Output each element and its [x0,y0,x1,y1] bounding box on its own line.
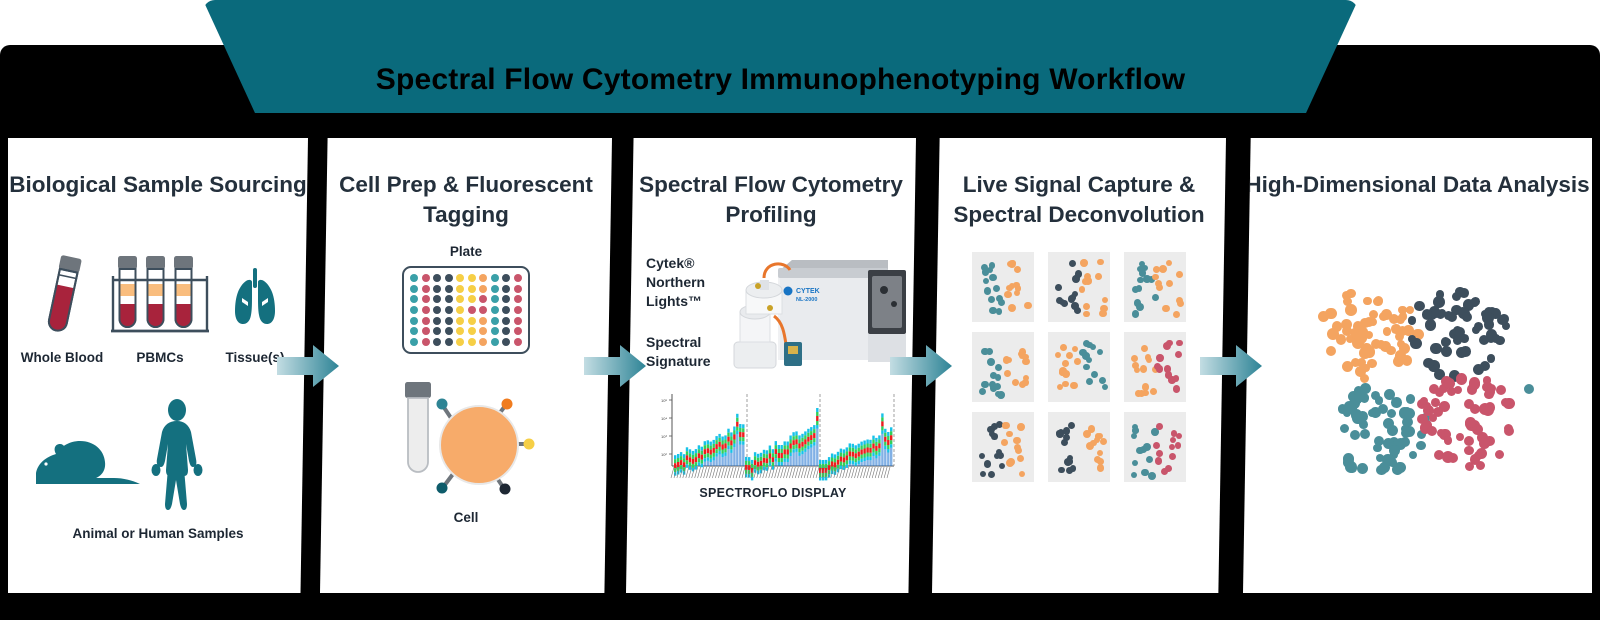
spectral-bin [810,435,812,440]
scatter-point [1097,259,1104,266]
spectral-bin [698,445,700,449]
scatter-point [1132,460,1138,466]
plate-well [456,317,464,325]
cluster-point [1383,327,1392,336]
scatter-point [1088,425,1096,433]
scatter-point [1019,348,1027,356]
scatter-point [1166,280,1173,287]
scatter-point [1176,271,1183,278]
spectral-bin [846,464,848,468]
spectral-bin [881,421,883,426]
cluster-point [1456,433,1465,442]
scatter-point [1062,381,1069,388]
step-card-live-signal-capture-deconvolution[interactable]: Live Signal Capture & Spectral Deconvolu… [932,138,1226,593]
spectral-bin [816,429,818,467]
spectral-bin [795,435,797,439]
scatter-point [979,388,986,395]
spectral-bin [828,461,830,465]
spectral-bin [704,458,706,462]
spectral-bin [801,438,803,442]
spectral-bin [760,461,762,466]
scatter-point [1161,468,1169,476]
spectral-bin [825,460,827,464]
spectral-bin [745,465,747,470]
spectral-bin [804,431,806,435]
spectral-bin [674,459,676,463]
spectral-bin [834,454,836,458]
spectral-bin [852,448,854,452]
scatter-point [1006,357,1012,363]
spectral-bin [689,466,691,470]
spectral-bin [781,466,783,467]
plate-well [514,306,522,314]
scatter-point [1162,305,1170,313]
workflow-steps: Biological Sample Sourcing [0,138,1600,593]
spectral-bin [775,449,777,454]
spectral-bin [698,462,700,466]
spectral-bin [792,449,794,453]
plate-well [502,317,510,325]
spectral-bin [875,451,877,455]
workflow-diagram: Spectral Flow Cytometry Immunophenotypin… [0,0,1600,620]
spectral-bin [784,445,786,449]
spectral-bin [822,460,824,464]
spectral-bin [695,462,697,466]
scatter-point [1062,360,1069,367]
spectral-bin [872,453,874,457]
spectral-bin [881,430,883,434]
scatter-point [1019,471,1025,477]
spectral-bin [754,452,756,456]
spectral-bin [769,450,771,454]
cluster-point [1447,312,1458,323]
scatter-point [999,463,1005,469]
spectral-bin [816,421,818,425]
spectral-bin [787,442,789,446]
scatter-point [1169,453,1176,460]
plate-well [468,295,476,303]
cluster-point [1469,379,1480,390]
cluster-point [1362,364,1370,372]
instrument-brand-text: CYTEK [796,288,820,295]
plate-label: Plate [320,244,612,259]
human-icon [146,398,208,520]
spectral-bin [692,451,694,455]
spectral-bin [813,429,815,433]
spectral-bin [763,454,765,458]
scatter-point [1152,294,1159,301]
cluster-point [1441,346,1452,357]
spectral-bin [730,440,732,445]
spectral-bin [807,433,809,437]
scatter-point [1070,465,1076,471]
spectral-bin [807,429,809,433]
scatter-point [1056,430,1064,438]
spectral-bin [710,442,712,446]
cluster-point [1444,436,1453,445]
plate-well [514,317,522,325]
spectral-bin [724,452,726,456]
spectral-bin [792,436,794,440]
spectral-bin [875,458,877,466]
cluster-point [1345,304,1357,316]
spectral-bin [887,453,889,467]
spectral-bin [887,449,889,453]
scatter-point [1099,310,1107,318]
step-title: Cell Prep & Fluorescent Tagging [320,170,612,229]
lungs-tissue-icon [224,268,286,332]
spectral-bin [804,435,806,439]
spectral-bin [689,449,691,453]
plate-well [410,295,418,303]
spectral-bin [816,412,818,416]
spectral-bin [695,453,697,457]
cluster-point [1406,306,1414,314]
plate-well [502,285,510,293]
spectral-bin [852,464,854,466]
plate-well [433,317,441,325]
step-3-artwork: Cytek® Northern Lights™ Spectral Signatu… [626,238,916,593]
spectral-bin [869,448,871,453]
spectral-bin [872,436,874,440]
spectral-bin [878,452,880,456]
spectral-bin [775,458,777,462]
plate-well [502,274,510,282]
spectral-bin [795,439,797,444]
spectral-bin [866,453,868,457]
plate-well [422,338,430,346]
scatter-point [1075,270,1083,278]
spectral-bin [674,455,676,459]
plate-well [433,295,441,303]
spectral-bin [810,431,812,435]
spectral-bin [704,462,706,466]
spectral-bin [781,445,783,449]
spectral-bin [789,440,791,444]
scatter-point [1090,344,1096,350]
scatter-point [981,348,988,355]
whole-blood-label: Whole Blood [16,350,108,365]
spectral-bin [721,437,723,441]
spectral-bin [810,440,812,444]
spectral-bin [801,434,803,438]
spectral-bin [763,463,765,467]
plate-well [479,338,487,346]
spectral-bin [707,440,709,444]
spectral-bin [846,447,848,451]
cluster-point [1400,437,1410,447]
step-card-spectral-flow-cytometry-profiling[interactable]: Spectral Flow Cytometry Profiling Cytek®… [626,138,916,593]
spectral-bin [858,461,860,465]
scatter-point [1082,278,1089,285]
spectral-bin [683,462,685,467]
scatter-point [1006,431,1013,438]
spectral-bin [760,453,762,457]
spectral-bin [846,460,848,464]
cluster-point [1437,429,1445,437]
spectral-bin [730,445,732,449]
scatter-point [1136,447,1143,454]
spectral-bin [701,464,703,468]
arrow-step3-to-step4 [890,345,952,387]
scatter-point [1086,442,1094,450]
step-card-high-dimensional-data-analysis[interactable]: High-Dimensional Data Analysis [1243,138,1592,593]
spectral-bin [813,438,815,442]
spectral-bin [822,464,824,468]
spectral-bin [855,453,857,458]
spectral-bin [748,457,750,461]
spectral-bin [727,437,729,442]
pbmcs-label: PBMCs [116,350,204,365]
spectral-bin [739,445,741,467]
cluster-point [1336,334,1347,345]
spectral-bin [739,428,741,432]
scatter-point [1143,275,1151,283]
plate-well [479,285,487,293]
spectral-bin [810,448,812,466]
plate-well [422,327,430,335]
spectral-bin [745,461,747,465]
spectral-bin [766,458,768,463]
spectral-bin [781,453,783,458]
spectral-bin [742,437,744,441]
scatter-point [1080,259,1088,267]
plate-well [433,338,441,346]
spectral-bin [884,429,886,433]
scatter-point [989,307,997,315]
step-title: Biological Sample Sourcing [8,170,308,200]
spectral-bin [884,442,886,446]
spectral-bin [855,445,857,449]
plate-well [468,317,476,325]
spectral-bin [795,444,797,448]
scatter-point [1100,438,1107,445]
spectral-bin [840,466,842,470]
scatter-point [1097,458,1104,465]
spectral-bin [742,424,744,428]
spectral-bin [775,462,777,466]
spectral-bin [686,464,688,468]
spectral-bin [840,457,842,462]
spectral-bin [840,449,842,453]
scatter-point [1069,260,1076,267]
cluster-point [1357,463,1368,474]
scatter-panel [1124,412,1186,482]
spectral-bin [781,458,783,462]
scatter-point [1166,260,1172,266]
step-card-biological-sample-sourcing[interactable]: Biological Sample Sourcing [8,138,308,593]
scatter-point [989,274,997,282]
cluster-point [1422,309,1433,320]
scatter-panel [972,412,1034,482]
spectral-bin [689,453,691,457]
spectral-bin [724,435,726,439]
scatter-point [1156,450,1163,457]
spectral-bin [887,440,889,445]
scatter-point [994,383,1001,390]
spectral-bin [860,462,862,466]
cluster-point [1504,424,1513,433]
spectral-bin [798,435,800,439]
spectral-bin [710,455,712,459]
plate-well [491,295,499,303]
spectral-bin [721,445,723,450]
spectral-bin [730,449,732,453]
plate-well [514,285,522,293]
cluster-point [1398,326,1408,336]
spectroflo-caption: SPECTROFLO DISPLAY [648,486,898,500]
spectral-bin [715,457,717,466]
plate-well [445,295,453,303]
spectral-bin [819,464,821,468]
cluster-point [1351,409,1362,420]
spectral-bin [787,455,789,459]
spectral-bin [775,445,777,449]
scatter-point [1102,384,1109,391]
spectral-bin [852,457,854,461]
scatter-point [1012,379,1019,386]
spectral-bin [724,456,726,466]
scatter-panel [1048,252,1110,322]
spectral-bin [890,427,892,431]
spectral-bin [792,440,794,445]
scatter-point [1095,433,1102,440]
spectral-bin [795,452,797,466]
step-title: Spectral Flow Cytometry Profiling [626,170,916,229]
spectral-bin [834,462,836,467]
banner-title: Spectral Flow Cytometry Immunophenotypin… [203,63,1358,97]
scatter-point [1007,458,1015,466]
svg-text:10³: 10³ [661,434,667,439]
hd-cluster-plot [1298,262,1538,492]
step-title: High-Dimensional Data Analysis [1243,170,1592,200]
spectral-bin [784,454,786,458]
cluster-point [1436,290,1444,298]
spectral-bin [680,456,682,460]
spectral-bin [807,449,809,466]
step-4-artwork [932,238,1226,593]
spectral-bin [710,446,712,450]
scatter-point [1152,274,1159,281]
spectral-bin [769,459,771,463]
scatter-point [1146,456,1153,463]
spectral-bin [701,447,703,451]
spectral-bin [858,444,860,448]
spectral-bin [698,458,700,462]
spectral-bin [798,443,800,448]
cluster-point [1381,309,1392,320]
spectral-bin [798,448,800,452]
cluster-point [1472,326,1480,334]
scatter-point [1142,383,1150,391]
spectral-bin [798,452,800,456]
spectral-bin [834,458,836,462]
spectral-bin [849,451,851,456]
spectral-bin [778,466,780,467]
scatter-point [1057,384,1063,390]
spectral-bin [787,446,789,450]
spectral-bin [775,454,777,458]
spectral-bin [707,461,709,466]
spectral-bin [872,456,874,466]
animal-or-human-samples-label: Animal or Human Samples [8,526,308,541]
spectral-bin [869,453,871,457]
scatter-point [1171,430,1178,437]
spectral-bin [846,455,848,460]
spectral-bin [742,428,744,432]
plate-well [410,285,418,293]
scatter-point [991,433,997,439]
spectral-bin [872,449,874,453]
spectral-bin [863,458,865,462]
spectral-bin [860,455,862,459]
scatter-point [1132,310,1140,318]
cluster-point [1404,408,1416,420]
spectral-bin [852,452,854,457]
scatter-point [1055,284,1062,291]
spectral-signature-label: Spectral Signature [646,333,724,371]
spectral-bin [789,456,791,466]
spectral-bin [730,453,732,466]
spectral-bin [677,462,679,467]
spectral-bin [798,439,800,443]
plate-well [410,338,418,346]
svg-text:10²: 10² [661,452,667,457]
spectral-bin [727,446,729,450]
cluster-point [1342,291,1351,300]
cell-label: Cell [320,510,612,525]
plate-well [445,306,453,314]
cluster-point [1360,429,1370,439]
spectral-bin [801,442,803,447]
step-card-cell-prep-fluorescent-tagging[interactable]: Cell Prep & Fluorescent Tagging Plate [320,138,612,593]
cluster-point [1460,346,1471,357]
spectral-bin [804,444,806,448]
cluster-point [1471,297,1480,306]
spectral-bin [787,459,789,463]
scatter-point [982,268,989,275]
spectral-bin [869,444,871,448]
spectral-bin [863,454,865,458]
svg-text:10⁴: 10⁴ [661,416,667,421]
cluster-point [1391,397,1402,408]
spectral-bin [887,436,889,440]
spectral-bin [763,450,765,454]
scatter-point [993,285,1000,292]
spectral-bin [757,454,759,458]
spectral-bin [855,449,857,453]
cluster-point [1420,397,1428,405]
spectral-bin [801,454,803,466]
spectral-bin [695,457,697,462]
spectral-bin [772,457,774,462]
spectral-bin [852,461,854,465]
plate-well [433,306,441,314]
spectral-bin [860,446,862,450]
spectral-bin [748,461,750,465]
scatter-point [1014,290,1020,296]
spectral-bin [789,453,791,457]
cluster-point [1401,428,1411,438]
scatter-point [1083,364,1090,371]
arrow-step2-to-step3 [584,345,646,387]
spectral-bin [686,460,688,464]
scatter-point [980,471,986,477]
spectral-bin [713,460,715,466]
plate-well [456,274,464,282]
spectral-bin [807,442,809,446]
spectral-bin [680,452,682,456]
